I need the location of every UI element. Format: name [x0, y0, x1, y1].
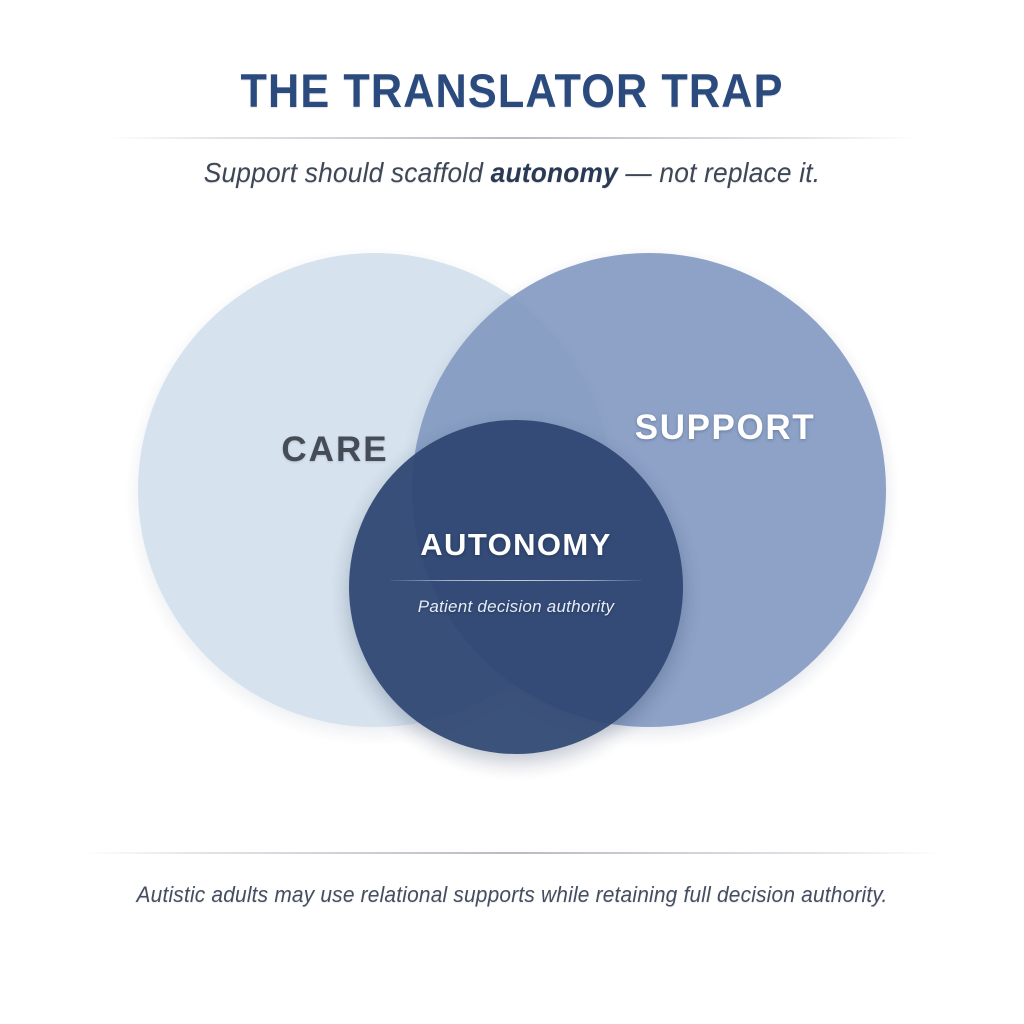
footer: Autistic adults may use relational suppo…: [0, 852, 1024, 908]
venn-autonomy-divider: [390, 580, 642, 581]
venn-sublabel-autonomy: Patient decision authority: [356, 597, 676, 617]
venn-label-autonomy-group: AUTONOMY Patient decision authority: [356, 528, 676, 617]
footer-caption: Autistic adults may use relational suppo…: [26, 854, 999, 908]
infographic-poster: THE TRANSLATOR TRAP Support should scaff…: [0, 0, 1024, 1024]
venn-label-autonomy: AUTONOMY: [356, 528, 676, 562]
